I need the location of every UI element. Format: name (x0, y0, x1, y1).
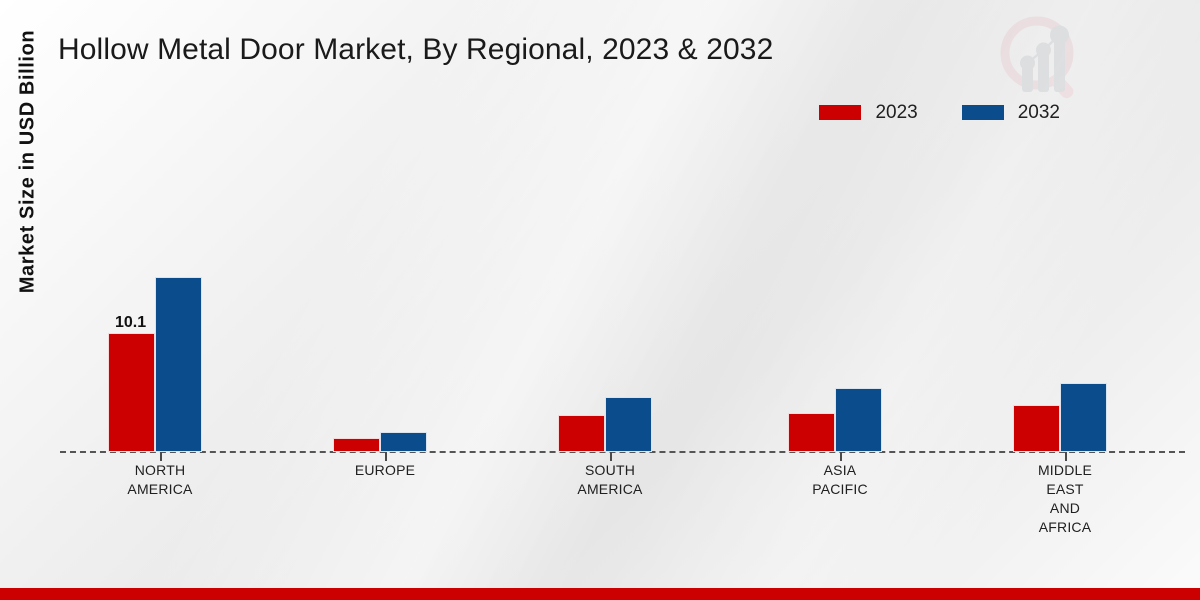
axis-tick-north-america (160, 452, 162, 461)
legend-item-2023[interactable]: 2023 (819, 103, 917, 122)
bar-2023-south-america[interactable] (558, 415, 605, 452)
category-line: SOUTH (510, 461, 710, 480)
legend-label-2023: 2023 (875, 103, 917, 122)
category-label-europe: EUROPE (285, 461, 485, 480)
bar-2023-middle-east-and-africa[interactable] (1013, 405, 1060, 452)
category-label-south-america: SOUTH AMERICA (510, 461, 710, 499)
axis-tick-europe (385, 452, 387, 461)
category-line: EAST (965, 480, 1165, 499)
category-line: ASIA (740, 461, 940, 480)
category-line: AMERICA (510, 480, 710, 499)
legend-swatch-2023 (819, 105, 861, 120)
chart-legend: 2023 2032 (819, 103, 1060, 122)
bar-2032-north-america[interactable] (155, 277, 202, 452)
category-line: AMERICA (60, 480, 260, 499)
bar-2023-north-america[interactable] (108, 333, 155, 452)
category-line: AFRICA (965, 518, 1165, 537)
category-line: NORTH (60, 461, 260, 480)
bar-group-europe: EUROPE (285, 0, 485, 600)
category-line: MIDDLE (965, 461, 1165, 480)
legend-label-2032: 2032 (1018, 103, 1060, 122)
bar-group-asia-pacific: ASIA PACIFIC (740, 0, 940, 600)
x-axis-baseline (60, 451, 1185, 453)
chart-canvas: Hollow Metal Door Market, By Regional, 2… (0, 0, 1200, 600)
bar-2023-asia-pacific[interactable] (788, 413, 835, 452)
chart-title: Hollow Metal Door Market, By Regional, 2… (58, 33, 773, 67)
category-line: EUROPE (285, 461, 485, 480)
axis-tick-middle-east-and-africa (1065, 452, 1067, 461)
category-label-middle-east-and-africa: MIDDLE EAST AND AFRICA (965, 461, 1165, 537)
category-label-north-america: NORTH AMERICA (60, 461, 260, 499)
axis-tick-south-america (610, 452, 612, 461)
category-line: PACIFIC (740, 480, 940, 499)
bar-2032-south-america[interactable] (605, 397, 652, 452)
bar-2032-asia-pacific[interactable] (835, 388, 882, 452)
bar-group-north-america: 10.1 NORTH AMERICA (60, 0, 260, 600)
category-line: AND (965, 499, 1165, 518)
bar-2032-europe[interactable] (380, 432, 427, 452)
axis-tick-asia-pacific (840, 452, 842, 461)
legend-swatch-2032 (962, 105, 1004, 120)
y-axis-title: Market Size in USD Billion (17, 0, 40, 332)
category-label-asia-pacific: ASIA PACIFIC (740, 461, 940, 499)
bar-value-label-north-america-2023: 10.1 (115, 314, 146, 332)
bar-2032-middle-east-and-africa[interactable] (1060, 383, 1107, 452)
bar-group-south-america: SOUTH AMERICA (510, 0, 710, 600)
bottom-accent-strip (0, 588, 1200, 600)
bar-2023-europe[interactable] (333, 438, 380, 452)
magnifier-bar-chart-logo-watermark (990, 8, 1094, 104)
legend-item-2032[interactable]: 2032 (962, 103, 1060, 122)
